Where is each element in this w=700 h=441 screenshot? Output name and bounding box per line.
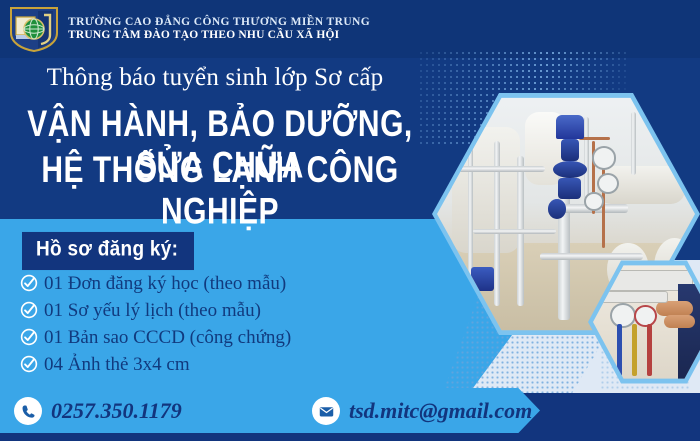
poster-root: TRƯỜNG CAO ĐẲNG CÔNG THƯƠNG MIỀN TRUNG T… — [0, 0, 700, 441]
documents-badge: Hồ sơ đăng ký: — [22, 232, 194, 270]
photo-hose-yellow — [632, 324, 637, 376]
photo-gauge-3 — [584, 192, 603, 211]
email-contact[interactable]: tsd.mitc@gmail.com — [312, 397, 532, 425]
list-item-label: 01 Bản sao CCCD (công chứng) — [44, 328, 291, 347]
photo-valve-round — [548, 199, 566, 218]
photo-valve-lower-left — [471, 267, 494, 291]
photo-valve-flange — [553, 161, 587, 178]
list-item: 01 Đơn đăng ký học (theo mẫu) — [20, 271, 390, 295]
photo-valve-actuator-top — [556, 115, 584, 139]
phone-number: 0257.350.1179 — [51, 398, 182, 424]
photo-hose-blue — [617, 324, 622, 376]
phone-glyph — [20, 403, 37, 420]
photo-gauge-1 — [592, 146, 617, 169]
photo-hand-1 — [656, 301, 693, 316]
center-name: TRUNG TÂM ĐÀO TẠO THEO NHU CẦU XÃ HỘI — [68, 29, 370, 42]
phone-contact[interactable]: 0257.350.1179 — [14, 397, 182, 425]
photo-hose-red — [647, 324, 652, 376]
photo-pipe-4 — [584, 117, 589, 199]
announcement-subtitle: Thông báo tuyển sinh lớp Sơ cấp — [0, 64, 430, 92]
header-text-block: TRƯỜNG CAO ĐẲNG CÔNG THƯƠNG MIỀN TRUNG T… — [68, 16, 370, 42]
college-name: TRƯỜNG CAO ĐẲNG CÔNG THƯƠNG MIỀN TRUNG — [68, 16, 370, 29]
list-item-label: 01 Sơ yếu lý lịch (theo mẫu) — [44, 301, 261, 320]
documents-list: 01 Đơn đăng ký học (theo mẫu) 01 Sơ yếu … — [20, 271, 390, 379]
header: TRƯỜNG CAO ĐẲNG CÔNG THƯƠNG MIỀN TRUNG T… — [0, 0, 700, 58]
list-item-label: 04 Ảnh thẻ 3x4 cm — [44, 355, 190, 374]
photo-pipe-5 — [631, 112, 636, 175]
photo-pipe-h1 — [458, 166, 546, 172]
photo-manifold-bar — [600, 291, 668, 302]
photo-hand-2 — [664, 315, 696, 328]
photo-pipe-h2 — [473, 229, 556, 234]
list-item: 04 Ảnh thẻ 3x4 cm — [20, 352, 390, 376]
photo-gauge-2 — [597, 173, 619, 194]
check-circle-icon — [20, 274, 38, 292]
list-item-label: 01 Đơn đăng ký học (theo mẫu) — [44, 274, 286, 293]
photo-valve-body-1 — [561, 139, 579, 161]
envelope-icon — [312, 397, 340, 425]
envelope-glyph — [318, 403, 335, 420]
check-circle-icon — [20, 328, 38, 346]
check-circle-icon — [20, 355, 38, 373]
list-item: 01 Bản sao CCCD (công chứng) — [20, 325, 390, 349]
shield-globe-book-icon — [8, 5, 60, 53]
check-circle-icon — [20, 301, 38, 319]
photo-valve-body-2 — [558, 178, 581, 200]
college-logo — [8, 5, 60, 53]
phone-icon — [14, 397, 42, 425]
photo-manifold-gauge-2 — [634, 305, 656, 327]
list-item: 01 Sơ yếu lý lịch (theo mẫu) — [20, 298, 390, 322]
photo-pipe-1 — [468, 122, 473, 306]
email-address: tsd.mitc@gmail.com — [349, 398, 532, 424]
photo-pipe-h4 — [540, 253, 643, 260]
course-title-line2: HỆ THỐNG LẠNH CÔNG NGHIỆP — [0, 151, 440, 234]
